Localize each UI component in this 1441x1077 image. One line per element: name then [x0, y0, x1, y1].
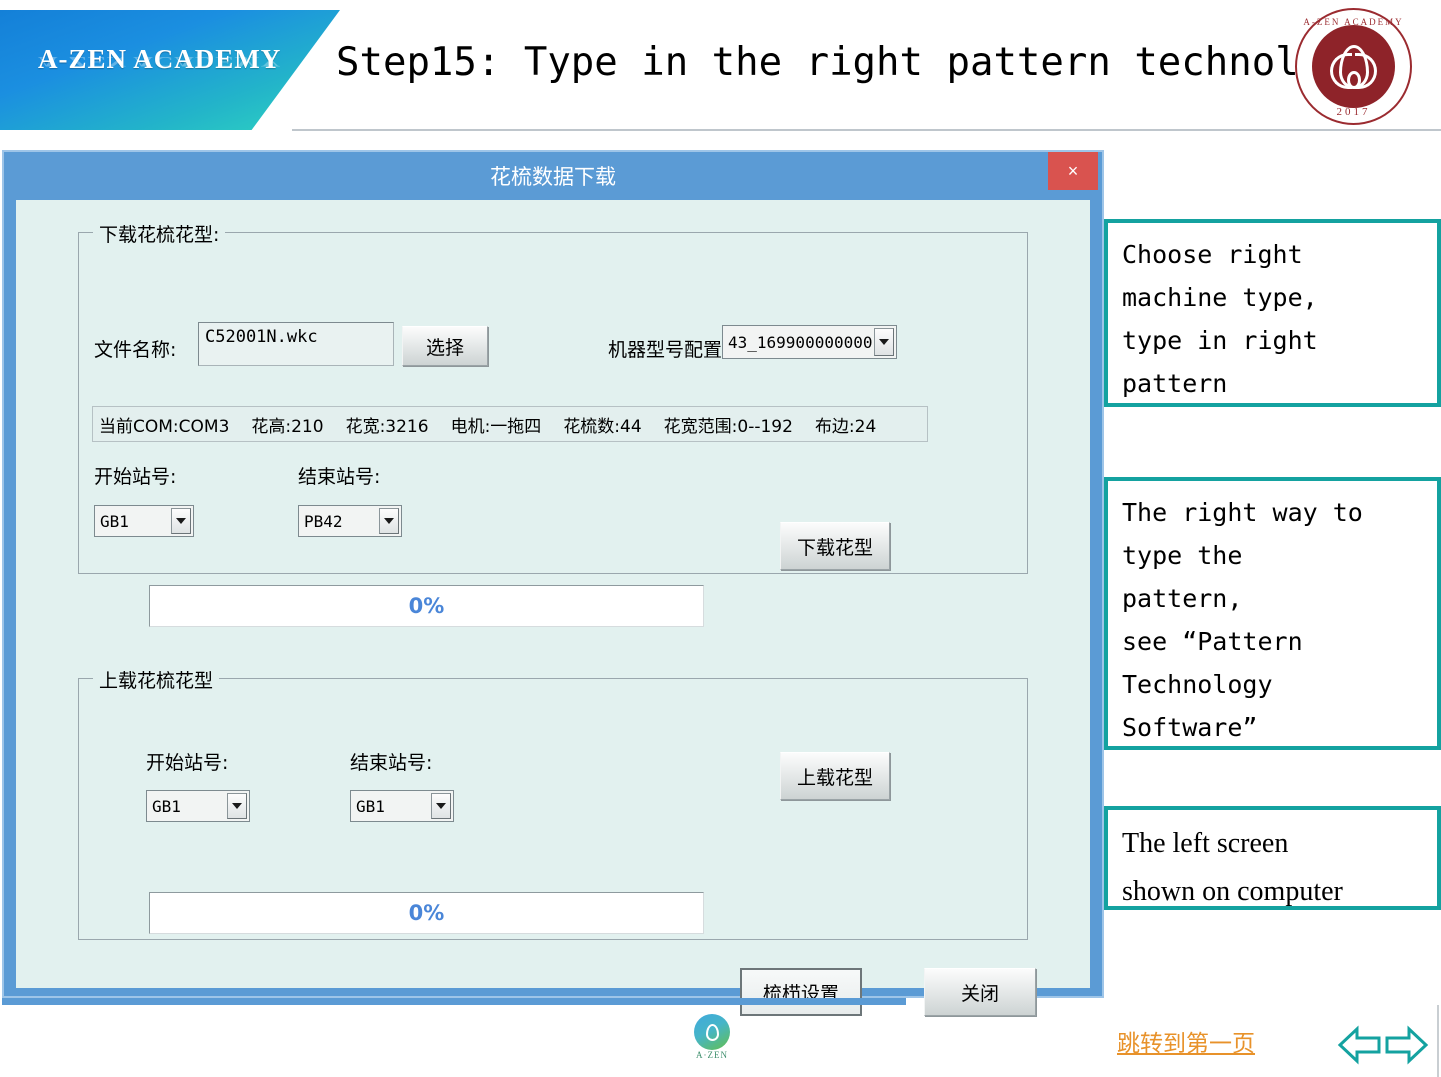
download-pattern-button[interactable]: 下载花型 [780, 522, 890, 570]
chevron-down-icon[interactable] [227, 793, 247, 819]
info-motor: 电机:一拖四 [451, 412, 542, 437]
dialog-title: 花梳数据下载 [4, 161, 1102, 191]
brand-logo-reflection: A-ZEN ACADEMY [38, 53, 281, 70]
upload-pattern-button[interactable]: 上载花型 [780, 752, 890, 800]
chevron-down-icon[interactable] [171, 508, 191, 534]
header-divider [292, 129, 1441, 131]
comb-settings-button[interactable]: 梳栉设置 [740, 968, 862, 1016]
jump-to-first-page-link[interactable]: 跳转到第一页 [1117, 1024, 1255, 1058]
note-left-screen: The left screen shown on computer [1104, 806, 1441, 910]
dialog-body: 下载花梳花型: 文件名称: C52001N.wkc 选择 机器型号配置: 43_… [16, 200, 1090, 988]
machine-type-label: 机器型号配置: [608, 335, 728, 362]
upload-start-station-value: GB1 [147, 797, 225, 816]
pattern-download-dialog: 花梳数据下载 × 下载花梳花型: 文件名称: C52001N.wkc 选择 机器… [2, 150, 1104, 998]
machine-info-strip: 当前COM:COM3 花高:210 花宽:3216 电机:一拖四 花梳数:44 … [92, 406, 928, 442]
footer-logo-badge [694, 1014, 730, 1050]
upload-end-station-select[interactable]: GB1 [350, 790, 454, 822]
upload-start-station-select[interactable]: GB1 [146, 790, 250, 822]
nav-arrows[interactable] [1337, 1025, 1429, 1065]
academy-seal-icon: A-ZEN ACADEMY 2017 [1295, 8, 1412, 125]
previous-arrow-icon [1340, 1029, 1379, 1061]
note-pattern-software: The right way to type the pattern, see “… [1104, 477, 1441, 750]
info-pattern-height: 花高:210 [251, 412, 323, 437]
download-start-station-label: 开始站号: [94, 462, 176, 489]
file-name-label: 文件名称: [94, 335, 176, 362]
info-com: 当前COM:COM3 [99, 412, 229, 437]
upload-end-station-label: 结束站号: [350, 748, 432, 775]
download-end-station-label: 结束站号: [298, 462, 380, 489]
seal-flame-inner-icon [1347, 71, 1361, 89]
footer-logo-flame-icon [706, 1024, 719, 1041]
upload-end-station-value: GB1 [351, 797, 429, 816]
right-edge-divider [1437, 1005, 1439, 1077]
seal-disc [1312, 25, 1395, 108]
file-name-input[interactable]: C52001N.wkc [198, 322, 394, 366]
chevron-down-icon[interactable] [874, 328, 894, 356]
download-start-station-select[interactable]: GB1 [94, 505, 194, 537]
download-group-legend: 下载花梳花型: [93, 220, 225, 247]
download-end-station-value: PB42 [299, 512, 377, 531]
footer-divider [2, 998, 906, 1005]
info-width-range: 花宽范围:0--192 [664, 412, 793, 437]
upload-start-station-label: 开始站号: [146, 748, 228, 775]
download-start-station-value: GB1 [95, 512, 169, 531]
info-pattern-width: 花宽:3216 [346, 412, 429, 437]
dialog-titlebar: 花梳数据下载 × [4, 152, 1102, 198]
select-file-button[interactable]: 选择 [402, 326, 488, 366]
download-progress-bar: 0% [149, 585, 704, 627]
page-title: Step15: Type in the right pattern techno… [336, 40, 1369, 85]
seal-year: 2017 [1297, 106, 1410, 118]
upload-progress-bar: 0% [149, 892, 704, 934]
dialog-close-button[interactable]: 关闭 [924, 968, 1036, 1016]
info-comb-count: 花梳数:44 [563, 412, 641, 437]
note-choose-machine-type: Choose right machine type, type in right… [1104, 219, 1441, 407]
download-end-station-select[interactable]: PB42 [298, 505, 402, 537]
info-selvedge: 布边:24 [815, 412, 876, 437]
next-arrow-icon [1387, 1029, 1426, 1061]
page-header: A-ZEN ACADEMY A-ZEN ACADEMY Step15: Type… [0, 0, 1441, 131]
footer-logo-icon: A·ZEN [688, 1014, 736, 1062]
upload-group-legend: 上载花梳花型 [93, 666, 219, 693]
close-icon[interactable]: × [1048, 152, 1098, 190]
machine-type-value: 43_16990000000000 [723, 333, 872, 352]
machine-type-select[interactable]: 43_16990000000000 [722, 325, 897, 359]
footer-logo-caption: A·ZEN [688, 1050, 736, 1060]
chevron-down-icon[interactable] [431, 793, 451, 819]
chevron-down-icon[interactable] [379, 508, 399, 534]
